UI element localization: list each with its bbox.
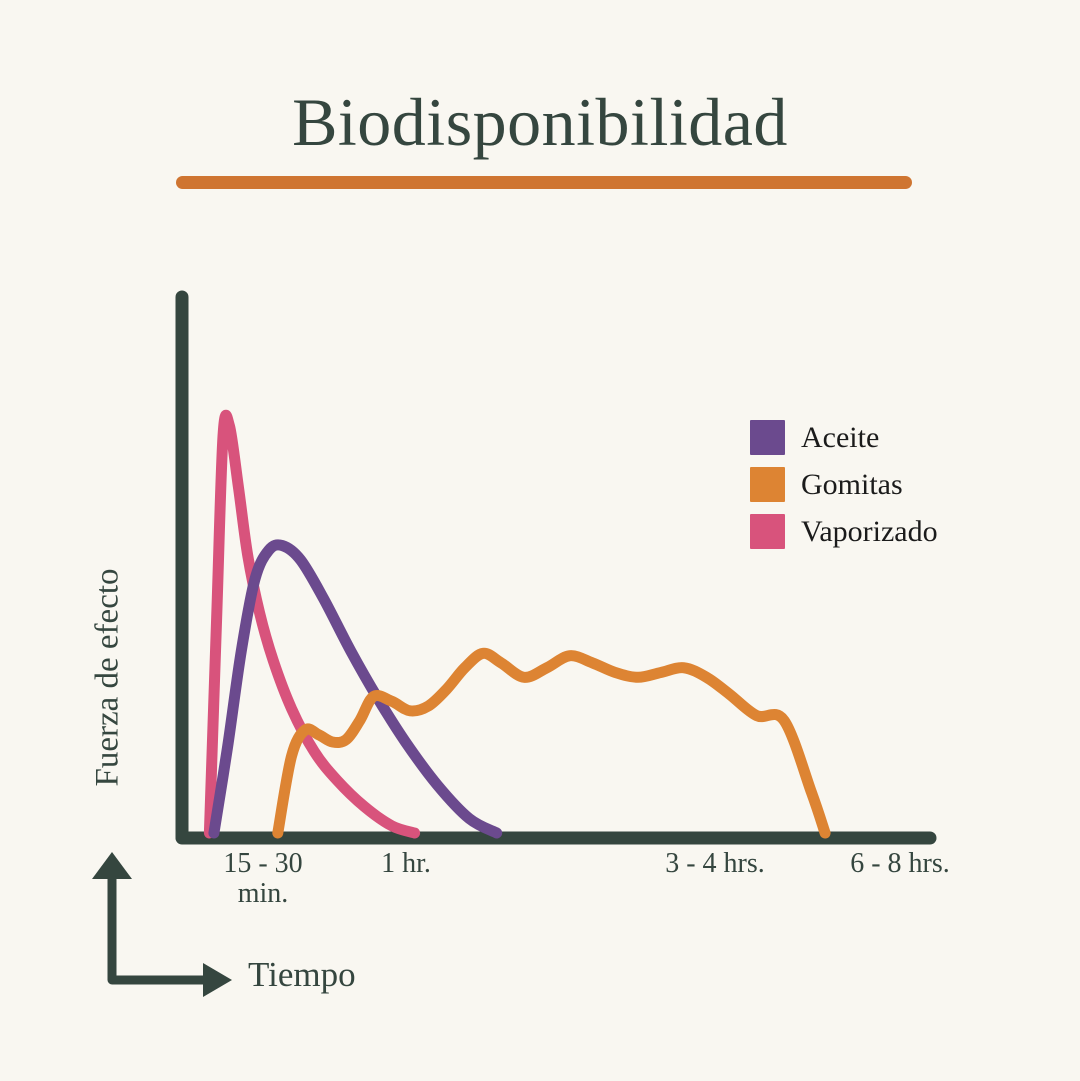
legend-swatch-icon-gomitas <box>750 467 785 502</box>
arrow-up-icon <box>92 852 132 879</box>
x-tick-label-0: 15 - 30 min. <box>180 849 346 909</box>
arrow-right-icon <box>203 963 232 997</box>
curve-aceite <box>214 545 497 833</box>
legend-item-aceite[interactable]: Aceite <box>750 414 1030 461</box>
curve-vaporizado <box>209 415 414 833</box>
legend: Aceite Gomitas Vaporizado <box>750 414 1030 555</box>
legend-item-vaporizado[interactable]: Vaporizado <box>750 508 1030 555</box>
x-axis-title: Tiempo <box>248 955 356 995</box>
chart-canvas: Biodisponibilidad 15 - 30 min. 1 hr. 3 -… <box>0 0 1080 1081</box>
legend-label-vaporizado: Vaporizado <box>801 517 938 547</box>
legend-item-gomitas[interactable]: Gomitas <box>750 461 1030 508</box>
x-tick-label-1: 1 hr. <box>330 849 482 879</box>
legend-swatch-icon-aceite <box>750 420 785 455</box>
x-tick-label-2: 3 - 4 hrs. <box>620 849 810 879</box>
legend-label-gomitas: Gomitas <box>801 470 903 500</box>
x-tick-label-3: 6 - 8 hrs. <box>800 849 1000 879</box>
legend-label-aceite: Aceite <box>801 423 879 453</box>
legend-swatch-icon-vaporizado <box>750 514 785 549</box>
y-axis-title: Fuerza de efecto <box>90 513 127 843</box>
